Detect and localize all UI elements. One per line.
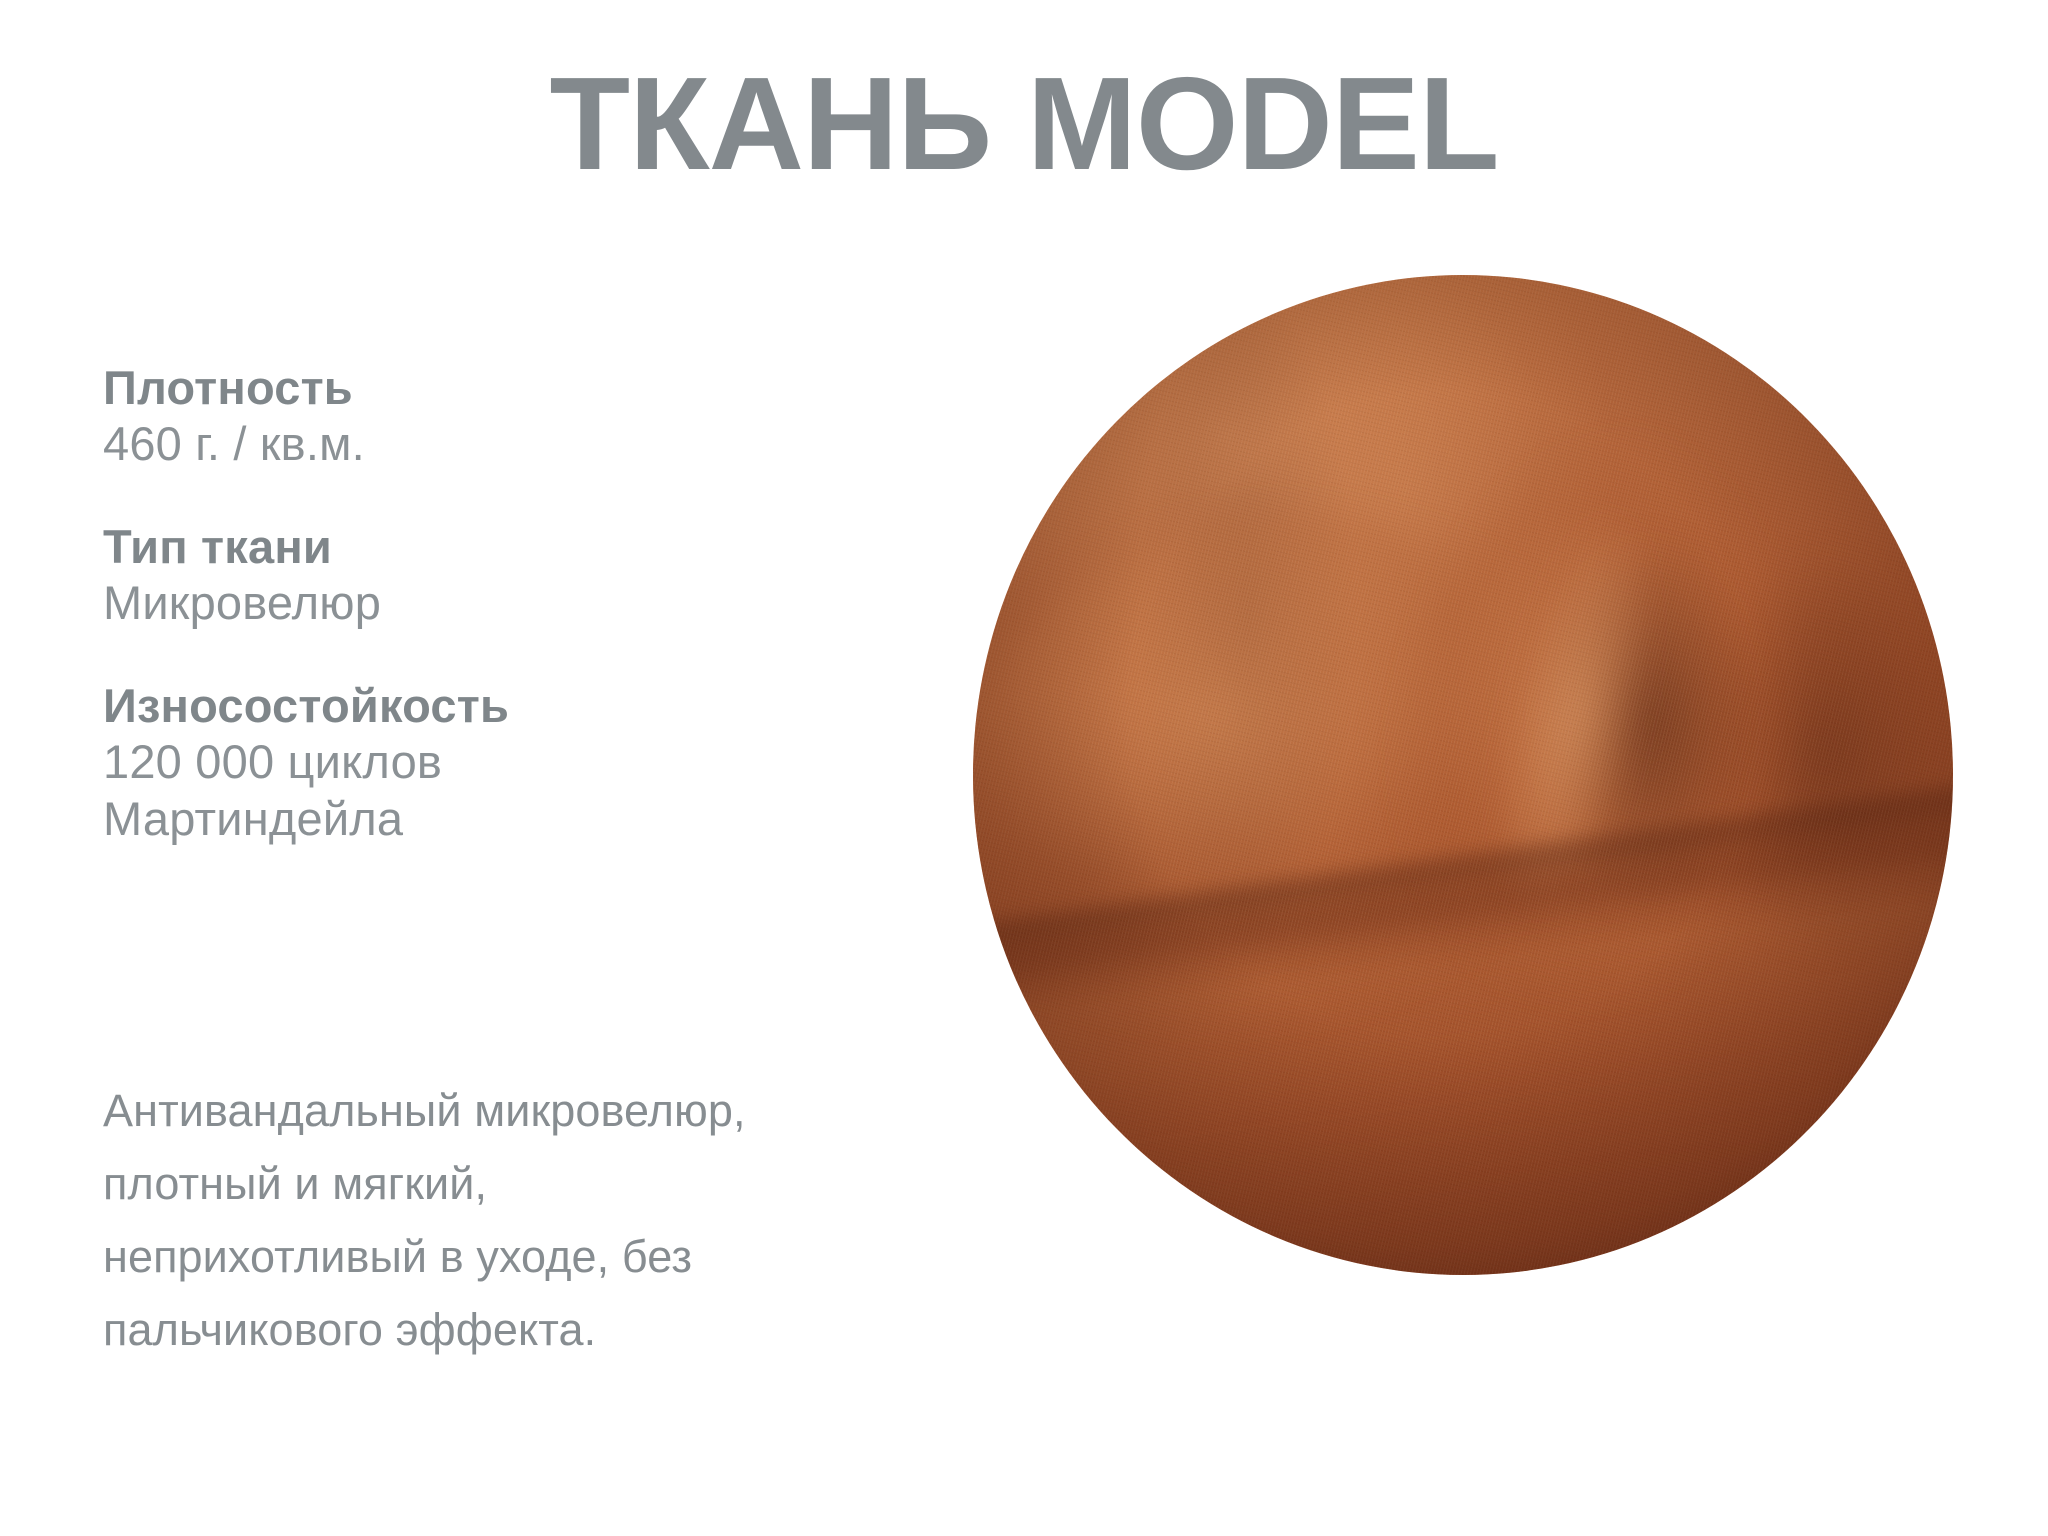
spec-label-fabric-type: Тип ткани	[103, 519, 903, 574]
description-line-4: пальчикового эффекта.	[103, 1294, 1003, 1367]
fabric-photo-image	[973, 275, 1953, 1275]
fabric-spec-slide: ТКАНЬ MODEL Плотность 460 г. / кв.м. Тип…	[0, 0, 2048, 1536]
spec-label-density: Плотность	[103, 360, 903, 415]
description-line-3: неприхотливый в уходе, без	[103, 1221, 1003, 1294]
spec-value-density: 460 г. / кв.м.	[103, 415, 903, 472]
spec-value-fabric-type: Микровелюр	[103, 574, 903, 631]
fabric-photo-circle	[973, 275, 1953, 1275]
description-paragraph: Антивандальный микровелюр, плотный и мяг…	[103, 1075, 1003, 1367]
spec-item-durability: Износостойкость 120 000 циклов Мартиндей…	[103, 678, 903, 848]
fabric-photo-vignette	[973, 275, 1953, 1275]
page-title: ТКАНЬ MODEL	[0, 55, 2048, 194]
spec-value-durability-cycles: 120 000 циклов	[103, 733, 903, 790]
description-line-2: плотный и мягкий,	[103, 1148, 1003, 1221]
spec-label-durability: Износостойкость	[103, 678, 903, 733]
spec-item-density: Плотность 460 г. / кв.м.	[103, 360, 903, 473]
spec-item-fabric-type: Тип ткани Микровелюр	[103, 519, 903, 632]
description-line-1: Антивандальный микровелюр,	[103, 1075, 1003, 1148]
spec-list: Плотность 460 г. / кв.м. Тип ткани Микро…	[103, 360, 903, 894]
spec-value-durability-standard: Мартиндейла	[103, 790, 903, 847]
